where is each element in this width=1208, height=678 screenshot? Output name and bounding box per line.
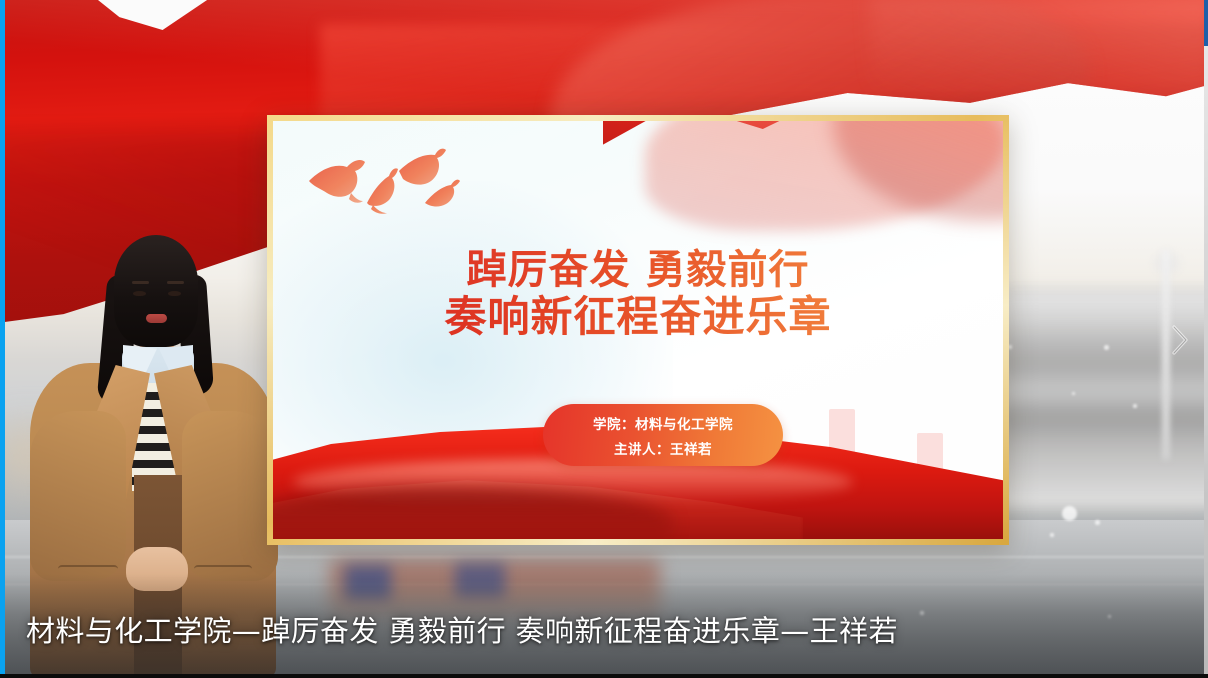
bokeh-dot [1072,392,1075,395]
video-caption: 材料与化工学院—踔厉奋发 勇毅前行 奏响新征程奋进乐章—王祥若 [26,608,1168,650]
bokeh-dot [1095,520,1100,525]
bokeh-dot [1050,533,1054,537]
presenter-brow-left [132,281,149,284]
slide-title: 踔厉奋发 勇毅前行 奏响新征程奋进乐章 [273,247,1003,342]
presenter-eye-left [133,291,146,296]
background-gate-banner-right [455,563,505,597]
presenter-hands [126,547,188,591]
window-right-top-edge [1204,0,1208,46]
presenter-pocket-left [58,565,118,585]
slide-speaker-label: 主讲人：王祥若 [614,438,712,458]
bokeh-dot [1133,404,1137,408]
bokeh-dot [1062,506,1077,521]
window-left-edge [0,0,5,678]
presenter-brow-right [167,281,184,284]
presenter-pocket-right [194,565,252,585]
slide-title-line-2: 奏响新征程奋进乐章 [273,293,1003,342]
presenter-hair [114,235,198,347]
scrollbar-track[interactable] [1204,46,1208,678]
background-gate-banner-left [345,565,391,599]
chevron-right-icon [1167,323,1193,357]
video-player-stage: 踔厉奋发 勇毅前行 奏响新征程奋进乐章 学院：材料与化工学院 主讲人：王祥若 材… [0,0,1208,678]
next-video-button[interactable] [1160,318,1200,362]
slide-info-pill: 学院：材料与化工学院 主讲人：王祥若 [543,404,783,466]
bokeh-dot [1104,345,1109,350]
dove-icon [301,143,481,229]
presenter-mouth [146,314,167,323]
presenter-sleeve-left [30,411,126,581]
presenter-eye-right [168,291,181,296]
slide-college-label: 学院：材料与化工学院 [593,413,733,433]
presentation-slide: 踔厉奋发 勇毅前行 奏响新征程奋进乐章 学院：材料与化工学院 主讲人：王祥若 [267,115,1009,545]
window-bottom-edge [0,674,1208,678]
presenter-sleeve-right [182,411,278,581]
slide-title-line-1: 踔厉奋发 勇毅前行 [467,247,810,293]
